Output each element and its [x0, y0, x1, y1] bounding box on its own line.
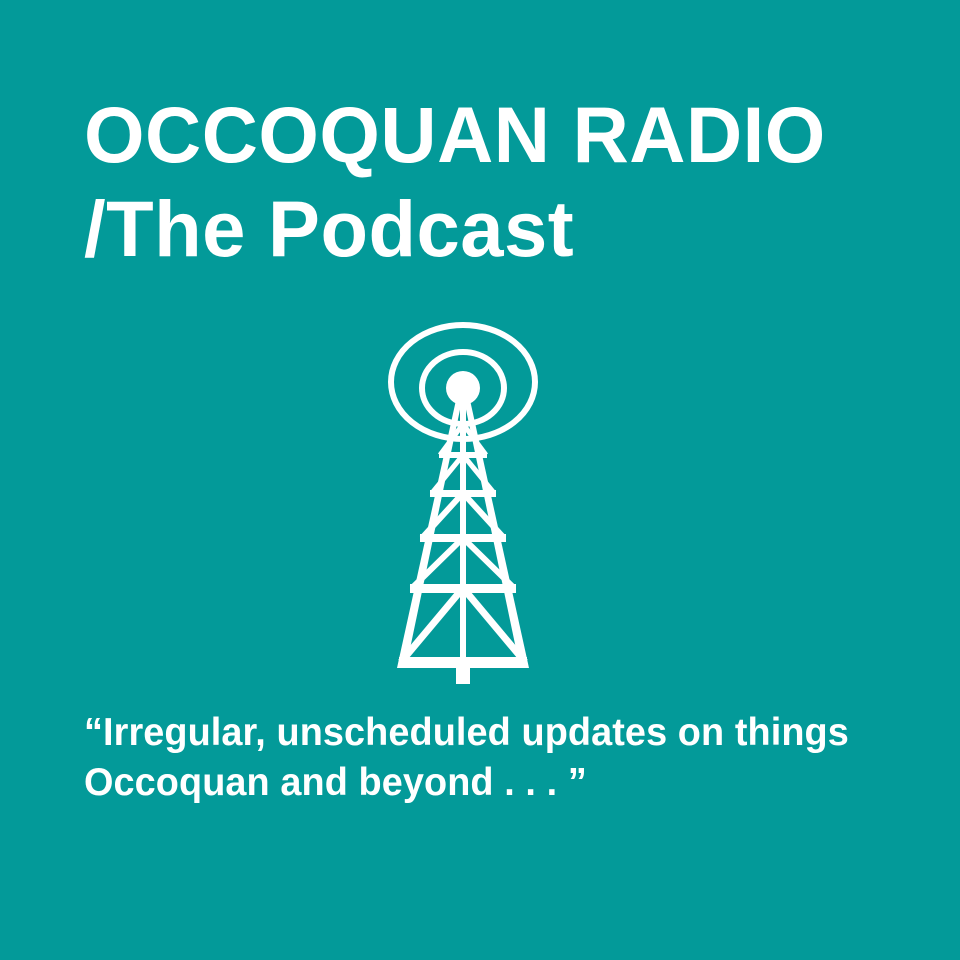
tagline-line-2: Occoquan and beyond . . . ”: [84, 758, 879, 808]
radio-tower-icon: [370, 312, 570, 692]
podcast-cover-art: OCCOQUAN RADIO /The Podcast: [0, 0, 960, 960]
tagline-block: “Irregular, unscheduled updates on thing…: [84, 708, 904, 808]
title-block: OCCOQUAN RADIO /The Podcast: [84, 88, 884, 276]
title-line-1: OCCOQUAN RADIO: [84, 88, 872, 182]
tagline-line-1: “Irregular, unscheduled updates on thing…: [84, 708, 879, 758]
title-line-2: /The Podcast: [84, 182, 872, 276]
